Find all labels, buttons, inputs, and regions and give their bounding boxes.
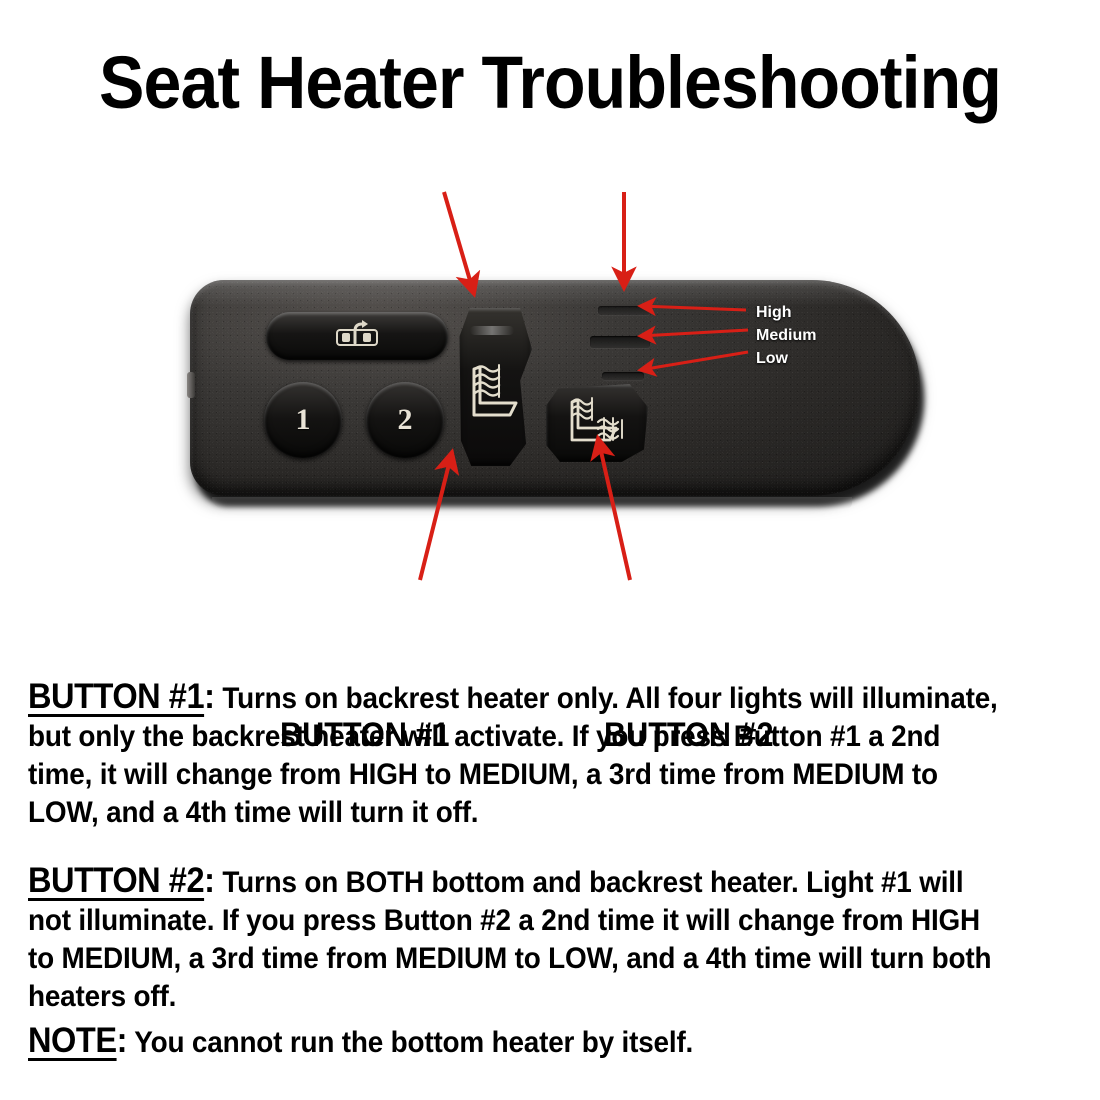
seat-heater-control-panel: 1 2 (190, 280, 930, 505)
indicator-light-high (598, 306, 650, 315)
paragraph-button-1: BUTTON #1: Turns on backrest heater only… (28, 678, 1001, 832)
level-label-low: Low (756, 350, 788, 368)
memory-preset-1-label: 1 (296, 405, 311, 435)
seat-heater-diagram: LIGHT #1 LIGHT #2 BUTTON #1 BUTTON #2 1 (0, 130, 1100, 650)
level-label-high: High (756, 304, 792, 322)
memory-preset-button-1[interactable]: 1 (264, 382, 342, 458)
memory-preset-button-2[interactable]: 2 (366, 382, 444, 458)
level-label-medium: Medium (756, 327, 816, 345)
paragraph-1-colon: : (204, 677, 215, 716)
indicator-light-low (602, 372, 644, 380)
paragraph-3-text: You cannot run the bottom heater by itse… (127, 1026, 693, 1059)
seat-memory-icon (329, 319, 385, 354)
paragraph-1-lead: BUTTON #1 (28, 677, 204, 716)
seat-memory-button[interactable] (266, 312, 448, 360)
paragraph-3-colon: : (117, 1021, 128, 1060)
paragraph-button-2: BUTTON #2: Turns on BOTH bottom and back… (28, 862, 1001, 1016)
heated-backrest-icon (466, 357, 524, 432)
paragraph-3-lead: NOTE (28, 1021, 117, 1060)
panel-bottom-lip (212, 497, 852, 509)
paragraph-note: NOTE: You cannot run the bottom heater b… (28, 1022, 1001, 1062)
memory-preset-2-label: 2 (398, 405, 413, 435)
paragraph-2-colon: : (204, 861, 215, 900)
heater-button-1-sheen (470, 326, 514, 335)
indicator-light-medium (590, 336, 650, 348)
paragraph-2-lead: BUTTON #2 (28, 861, 204, 900)
heater-button-2[interactable] (546, 384, 648, 462)
panel-side-notch (187, 372, 195, 398)
heated-seat-and-backrest-icon (560, 394, 634, 453)
page-title: Seat Heater Troubleshooting (44, 44, 1056, 122)
